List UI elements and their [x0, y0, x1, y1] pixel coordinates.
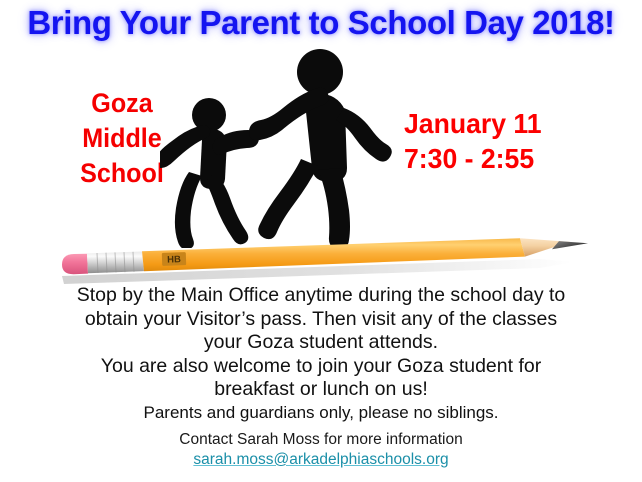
pencil-icon: HB: [54, 232, 602, 290]
body-p1-line-2: obtain your Visitor’s pass. Then visit a…: [0, 308, 642, 332]
page-title: Bring Your Parent to School Day 2018!: [0, 4, 642, 42]
body-p1-line-1: Stop by the Main Office anytime during t…: [0, 284, 642, 308]
parent-and-child-figures-illustration: [160, 44, 406, 248]
pencil-grade-label: HB: [167, 254, 181, 265]
pencil-eraser: [62, 254, 88, 274]
body-note: Parents and guardians only, please no si…: [0, 402, 642, 424]
body-paragraph-2: You are also welcome to join your Goza s…: [0, 355, 642, 402]
body-p1-line-3: your Goza student attends.: [0, 331, 642, 355]
pencil-grade-badge: HB: [162, 252, 186, 266]
contact-line: Contact Sarah Moss for more information: [179, 431, 462, 448]
event-date: January 11: [404, 106, 618, 141]
body-p2-line-2: breakfast or lunch on us!: [0, 378, 642, 402]
contact-block: Contact Sarah Moss for more information …: [0, 430, 642, 470]
event-time: 7:30 - 2:55: [404, 141, 618, 176]
child-figure-icon: [160, 98, 259, 248]
poster-flyer: Bring Your Parent to School Day 2018! Go…: [0, 0, 642, 482]
event-datetime-block: January 11 7:30 - 2:55: [404, 106, 618, 176]
adult-figure-icon: [249, 49, 392, 248]
body-text-block: Stop by the Main Office anytime during t…: [0, 284, 642, 424]
body-paragraph-1: Stop by the Main Office anytime during t…: [0, 284, 642, 355]
contact-email-link[interactable]: sarah.moss@arkadelphiaschools.org: [0, 450, 642, 470]
body-p2-line-1: You are also welcome to join your Goza s…: [0, 355, 642, 379]
